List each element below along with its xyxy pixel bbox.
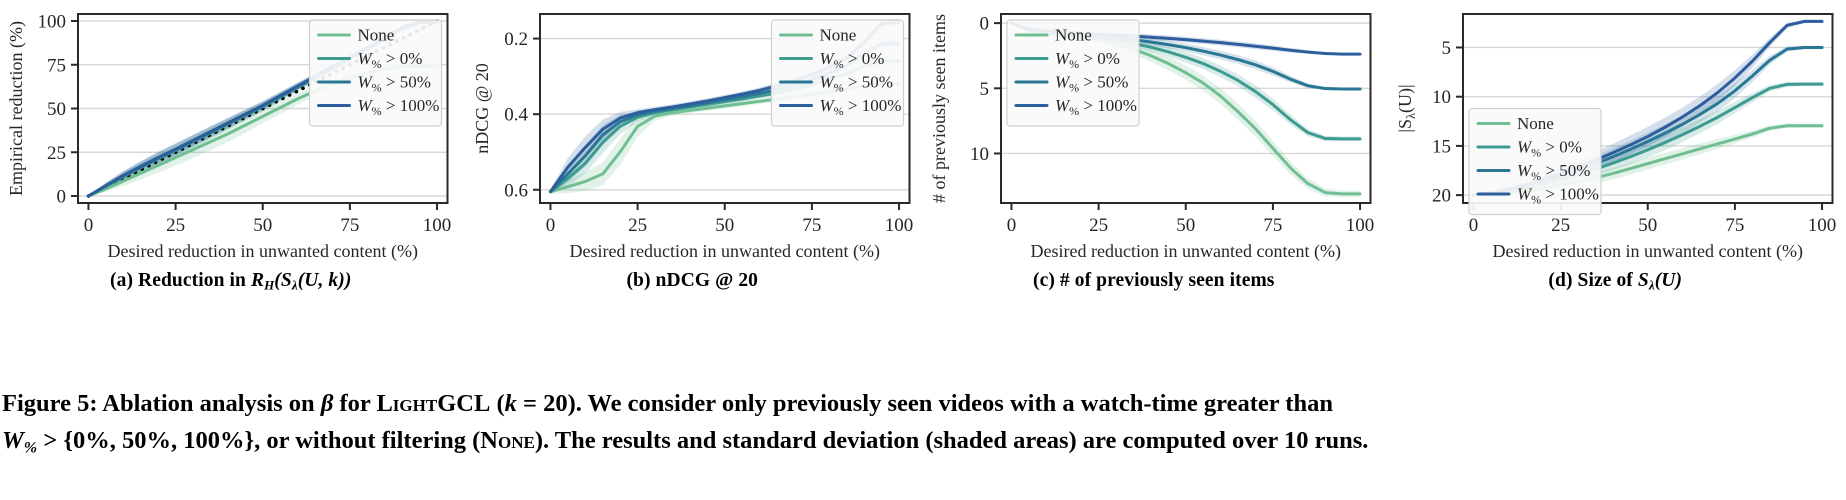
svg-text:5: 5 [980, 79, 990, 100]
panel-row: 02550751000255075100Desired reduction in… [0, 0, 1846, 320]
subcaption-a: (a) Reduction in RH(Sλ(U, k)) [0, 270, 462, 294]
svg-text:25: 25 [628, 215, 647, 236]
svg-text:100: 100 [423, 215, 452, 236]
subcaption-d-S: S [1638, 270, 1649, 291]
svg-text:W% > 0%: W% > 0% [819, 49, 884, 71]
svg-text:0.6: 0.6 [504, 180, 528, 201]
subcaption-a-prefix: (a) Reduction in [110, 270, 251, 291]
svg-text:5: 5 [1441, 38, 1451, 59]
svg-text:None: None [358, 26, 395, 45]
svg-text:None: None [819, 26, 856, 45]
svg-text:50: 50 [47, 99, 66, 120]
caption-W: W [2, 427, 24, 454]
svg-text:W% > 0%: W% > 0% [358, 49, 423, 71]
svg-text:W% > 0%: W% > 0% [1517, 138, 1582, 160]
svg-text:75: 75 [47, 55, 66, 76]
figure-5: 02550751000255075100Desired reduction in… [0, 0, 1846, 500]
subcaption-d: (d) Size of Sλ(U) [1385, 270, 1846, 294]
svg-text:75: 75 [1263, 215, 1282, 236]
svg-text:Desired reduction in unwanted: Desired reduction in unwanted content (%… [1492, 241, 1802, 262]
svg-text:0: 0 [545, 215, 555, 236]
svg-text:Desired reduction in unwanted: Desired reduction in unwanted content (%… [569, 241, 879, 262]
panel-d: 02550751005101520Desired reduction in un… [1385, 0, 1846, 320]
caption-text-1c: ( [490, 390, 504, 417]
caption-text-1d: = 20). We consider only previously seen … [517, 390, 1333, 417]
svg-text:W% > 50%: W% > 50% [819, 73, 892, 95]
caption-beta: β [321, 390, 334, 417]
svg-text:25: 25 [1551, 215, 1570, 236]
caption-k: k [505, 390, 517, 417]
svg-text:W% > 100%: W% > 100% [1517, 185, 1599, 207]
caption-text-1b: for [333, 390, 376, 417]
svg-text:Desired reduction in unwanted: Desired reduction in unwanted content (%… [1031, 241, 1341, 262]
svg-text:# of previously seen items: # of previously seen items [929, 14, 949, 203]
svg-text:None: None [1055, 26, 1092, 45]
panel-b: 02550751000.20.40.6Desired reduction in … [462, 0, 924, 320]
svg-text:W% > 100%: W% > 100% [358, 96, 440, 118]
plot-d: 02550751005101520Desired reduction in un… [1385, 0, 1846, 265]
svg-text:W% > 50%: W% > 50% [1517, 161, 1590, 183]
svg-text:0.4: 0.4 [504, 105, 528, 126]
caption-none-label: None [480, 427, 535, 454]
figure-caption: Figure 5: Ablation analysis on β for Lig… [0, 385, 1846, 461]
svg-text:0: 0 [84, 215, 94, 236]
svg-text:0.2: 0.2 [504, 29, 528, 50]
plot-a: 02550751000255075100Desired reduction in… [0, 0, 462, 265]
svg-text:W% > 100%: W% > 100% [819, 96, 901, 118]
svg-text:75: 75 [1725, 215, 1744, 236]
svg-text:W% > 50%: W% > 50% [358, 73, 431, 95]
svg-text:0: 0 [1468, 215, 1478, 236]
subcaption-c-text: (c) # of previously seen items [1033, 270, 1274, 291]
figure-caption-line-1: Figure 5: Ablation analysis on β for Lig… [2, 385, 1844, 422]
subcaption-c: (c) # of previously seen items [923, 270, 1385, 292]
figure-number: Figure 5: [2, 390, 98, 417]
subcaption-a-R: R [251, 270, 264, 291]
svg-text:100: 100 [884, 215, 913, 236]
svg-text:0: 0 [980, 14, 990, 35]
svg-text:nDCG @ 20: nDCG @ 20 [472, 63, 492, 154]
svg-text:25: 25 [166, 215, 185, 236]
caption-text-2a: > {0%, 50%, 100%}, or without filtering … [37, 427, 480, 454]
figure-caption-line-2: W% > {0%, 50%, 100%}, or without filteri… [2, 422, 1844, 461]
subcaption-a-S: (S [274, 270, 292, 291]
caption-model-name: LightGCL [376, 390, 490, 417]
svg-text:50: 50 [253, 215, 272, 236]
subcaption-b: (b) nDCG @ 20 [462, 270, 924, 292]
subcaption-d-tail: (U) [1655, 270, 1682, 291]
caption-text-2b: ). The results and standard deviation (s… [535, 427, 1369, 454]
caption-text-1a: Ablation analysis on [102, 390, 321, 417]
subcaption-d-prefix: (d) Size of [1548, 270, 1637, 291]
subcaption-a-tail: (U, k)) [298, 270, 352, 291]
svg-text:50: 50 [715, 215, 734, 236]
svg-text:100: 100 [1346, 215, 1375, 236]
svg-text:W% > 100%: W% > 100% [1055, 96, 1137, 118]
svg-text:75: 75 [340, 215, 359, 236]
subcaption-b-text: (b) nDCG @ 20 [626, 270, 758, 291]
svg-text:|Sλ(U)|: |Sλ(U)| [1395, 84, 1418, 132]
svg-text:10: 10 [970, 144, 989, 165]
panel-c: 02550751000510Desired reduction in unwan… [923, 0, 1385, 320]
svg-text:15: 15 [1432, 136, 1451, 157]
svg-text:Desired reduction in unwanted: Desired reduction in unwanted content (%… [108, 241, 418, 262]
subcaption-a-Rsub: H [264, 278, 274, 293]
plot-b: 02550751000.20.40.6Desired reduction in … [462, 0, 924, 265]
svg-text:25: 25 [1089, 215, 1108, 236]
svg-text:0: 0 [1007, 215, 1017, 236]
svg-text:100: 100 [38, 12, 67, 33]
svg-text:25: 25 [47, 143, 66, 164]
svg-text:Empirical reduction (%): Empirical reduction (%) [6, 21, 27, 196]
svg-text:W% > 50%: W% > 50% [1055, 73, 1128, 95]
plot-c: 02550751000510Desired reduction in unwan… [923, 0, 1385, 265]
svg-text:0: 0 [57, 187, 67, 208]
svg-text:W% > 0%: W% > 0% [1055, 49, 1120, 71]
svg-text:None: None [1517, 114, 1554, 133]
caption-W-sub: % [24, 440, 37, 457]
svg-text:75: 75 [802, 215, 821, 236]
svg-text:50: 50 [1638, 215, 1657, 236]
svg-text:100: 100 [1807, 215, 1836, 236]
svg-text:10: 10 [1432, 87, 1451, 108]
svg-text:20: 20 [1432, 186, 1451, 207]
panel-a: 02550751000255075100Desired reduction in… [0, 0, 462, 320]
svg-text:50: 50 [1176, 215, 1195, 236]
